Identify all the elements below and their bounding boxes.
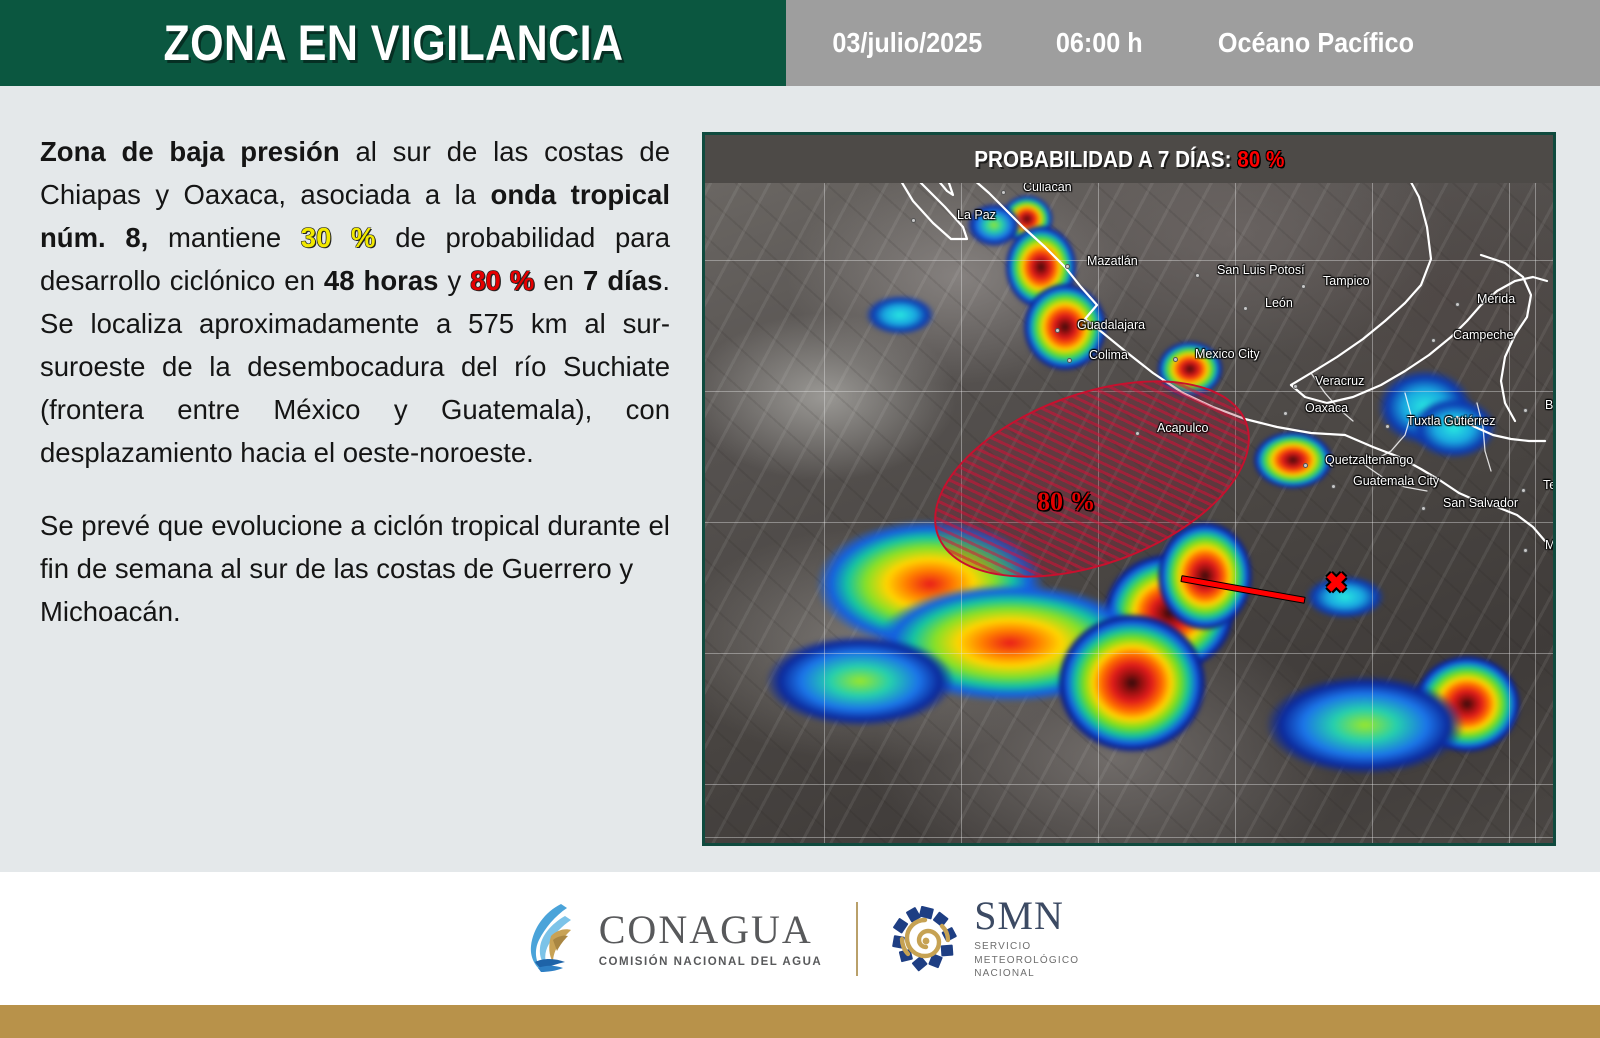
city-label: Mérida [1477, 292, 1515, 306]
city-marker-dot [1283, 411, 1288, 416]
p1-text-5: en [534, 265, 583, 296]
city-label: Mexico City [1195, 347, 1260, 361]
smn-tagline-line-2: METEOROLÓGICO [974, 954, 1079, 968]
city-label: León [1265, 296, 1293, 310]
city-marker-dot [1055, 328, 1060, 333]
smn-text-block: SMN SERVICIO METEOROLÓGICO NACIONAL [974, 896, 1079, 981]
timeframe-48h: 48 horas [324, 265, 439, 296]
conagua-logo-group: CONAGUA COMISIÓN NACIONAL DEL AGUA [521, 902, 822, 976]
city-marker-dot [1385, 424, 1390, 429]
smn-logo-group: SMN SERVICIO METEOROLÓGICO NACIONAL [892, 896, 1079, 981]
city-label: Quetzaltenango [1325, 453, 1413, 467]
city-marker-dot [1303, 463, 1308, 468]
convective-cluster-yucatan [1411, 397, 1497, 459]
city-label: Oaxaca [1305, 401, 1348, 415]
advisory-text-panel: Zona de baja presión al sur de las costa… [40, 130, 670, 633]
page-header: ZONA EN VIGILANCIA 03/julio/2025 06:00 h… [0, 0, 1600, 86]
city-label: San Luis Potosí [1217, 263, 1305, 277]
city-marker-dot [1173, 357, 1178, 362]
city-label: Campeche [1453, 328, 1513, 342]
advisory-date: 03/julio/2025 [832, 27, 982, 59]
city-marker-dot [1331, 484, 1336, 489]
city-marker-dot [1065, 264, 1070, 269]
probability-48h-value: 30 % [301, 222, 376, 253]
convective-band-itcz-east [1265, 675, 1465, 775]
convective-cluster-south-1 [1057, 613, 1207, 753]
city-marker-dot [1521, 488, 1526, 493]
smn-spiral-icon [892, 906, 958, 972]
page-title: ZONA EN VIGILANCIA [163, 14, 623, 72]
smn-tagline-line-3: NACIONAL [974, 967, 1079, 981]
map-title-banner: PROBABILIDAD A 7 DÍAS: 80 % [705, 135, 1553, 183]
city-marker-dot [1001, 190, 1006, 195]
conagua-eagle-water-icon [521, 902, 583, 976]
city-marker-dot [1067, 358, 1072, 363]
timeframe-7d: 7 días [583, 265, 662, 296]
p1-text-2: mantiene [148, 222, 300, 253]
convective-cluster-guatemala [1253, 431, 1333, 489]
advisory-paragraph-2: Se prevé que evolucione a ciclón tropica… [40, 504, 670, 633]
map-banner-text: PROBABILIDAD A 7 DÍAS: 80 % [974, 146, 1284, 173]
probability-zone-label: 80 % [1037, 487, 1096, 517]
city-marker-dot [1243, 306, 1248, 311]
city-label: Veracruz [1315, 374, 1364, 388]
map-banner-label: PROBABILIDAD A 7 DÍAS: [974, 146, 1231, 172]
advisory-paragraph-1: Zona de baja presión al sur de las costa… [40, 130, 670, 474]
city-label: Ma [1545, 538, 1556, 552]
logo-divider [856, 902, 858, 976]
convective-cluster-east [1157, 521, 1253, 631]
probability-7d-value: 80 % [470, 265, 534, 296]
map-banner-probability: 80 % [1237, 146, 1284, 172]
city-marker-dot [1293, 384, 1298, 389]
footer-gold-bar [0, 1005, 1600, 1038]
city-label: Te [1543, 478, 1556, 492]
advisory-basin: Océano Pacífico [1218, 27, 1414, 59]
city-label: Guadalajara [1077, 318, 1145, 332]
convective-wisp-northwest [865, 295, 935, 335]
header-meta-bar: 03/julio/2025 06:00 h Océano Pacífico [786, 0, 1600, 86]
conagua-text-block: CONAGUA COMISIÓN NACIONAL DEL AGUA [599, 910, 822, 968]
city-label: Belmop [1545, 398, 1556, 412]
city-label: Acapulco [1157, 421, 1208, 435]
city-marker-dot [1301, 284, 1306, 289]
city-label: San Salvador [1443, 496, 1518, 510]
city-label: Colima [1089, 348, 1128, 362]
conagua-tagline: COMISIÓN NACIONAL DEL AGUA [599, 956, 822, 968]
city-marker-dot [1523, 408, 1528, 413]
smn-wordmark: SMN [974, 896, 1079, 936]
low-pressure-term: Zona de baja presión [40, 136, 340, 167]
city-marker-dot [1431, 338, 1436, 343]
conagua-wordmark: CONAGUA [599, 910, 822, 950]
city-marker-dot [1195, 273, 1200, 278]
city-marker-dot [1135, 431, 1140, 436]
city-marker-dot [911, 218, 916, 223]
city-label: Mazatlán [1087, 254, 1138, 268]
city-marker-dot [1523, 548, 1528, 553]
advisory-time: 06:00 h [1055, 27, 1142, 59]
city-label: Tampico [1323, 274, 1370, 288]
p1-text-4: y [438, 265, 470, 296]
page-footer: CONAGUA COMISIÓN NACIONAL DEL AGUA [0, 872, 1600, 1005]
smn-tagline: SERVICIO METEOROLÓGICO NACIONAL [974, 940, 1079, 981]
city-label: La Paz [957, 208, 996, 222]
satellite-map[interactable]: 80 % ✖ CuliacánLa PazMazatlánSan Luis Po… [702, 132, 1556, 846]
smn-tagline-line-1: SERVICIO [974, 940, 1079, 954]
city-marker-dot [1455, 302, 1460, 307]
header-title-bar: ZONA EN VIGILANCIA [0, 0, 786, 86]
city-label: Guatemala City [1353, 474, 1439, 488]
city-label: Tuxtla Gutiérrez [1407, 414, 1495, 428]
city-marker-dot [1421, 506, 1426, 511]
disturbance-position-x-icon: ✖ [1325, 570, 1348, 597]
convective-band-itcz-west [765, 635, 955, 727]
